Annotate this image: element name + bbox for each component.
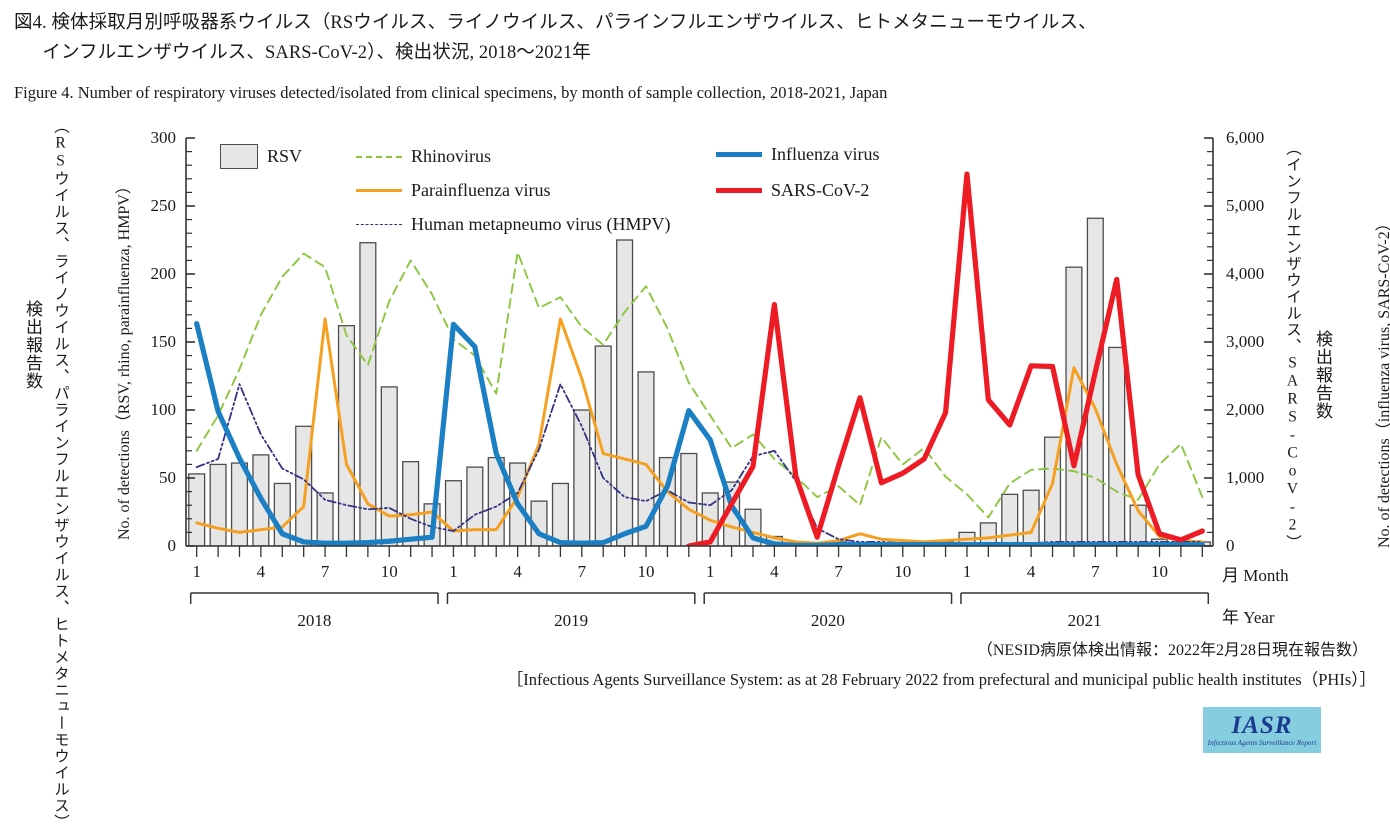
year-label: 2021 xyxy=(1015,611,1155,631)
bar-rsv xyxy=(467,467,483,546)
bar-rsv xyxy=(296,426,312,546)
right-axis-title-english: No. of detections（influenza virus, SARS-… xyxy=(1370,215,1390,548)
y-tick-label-right: 0 xyxy=(1226,537,1288,554)
x-tick-label-month: 10 xyxy=(374,563,404,580)
bar-rsv xyxy=(189,474,205,546)
y-tick-label-right: 1,000 xyxy=(1226,469,1288,486)
y-tick-label-right: 5,000 xyxy=(1226,197,1288,214)
x-tick-label-month: 7 xyxy=(310,563,340,580)
x-tick-label-month: 10 xyxy=(888,563,918,580)
iasr-logo-sub: Infectious Agents Surveillance Report xyxy=(1208,739,1317,748)
bar-rsv xyxy=(1066,267,1082,546)
bar-rsv xyxy=(360,243,376,546)
bar-rsv xyxy=(446,481,462,546)
x-tick-label-month: 4 xyxy=(1016,563,1046,580)
bar-rsv xyxy=(617,240,633,546)
bar-rsv xyxy=(403,462,419,546)
x-tick-label-month: 1 xyxy=(952,563,982,580)
bar-rsv xyxy=(553,483,569,546)
x-tick-label-month: 1 xyxy=(695,563,725,580)
year-label: 2019 xyxy=(501,611,641,631)
x-tick-label-month: 1 xyxy=(182,563,212,580)
right-axis-title-japanese: 検出報告数 xyxy=(1314,330,1331,420)
y-tick-label-left: 0 xyxy=(124,537,176,554)
left-axis-title-japanese: 検出報告数 xyxy=(24,300,41,390)
x-axis-year-title: 年 Year xyxy=(1222,603,1275,628)
y-tick-label-left: 150 xyxy=(124,333,176,350)
chart-canvas xyxy=(186,138,1213,546)
y-tick-label-left: 200 xyxy=(124,265,176,282)
x-tick-label-month: 10 xyxy=(631,563,661,580)
y-tick-label-left: 50 xyxy=(124,469,176,486)
x-axis-month-title: 月 Month xyxy=(1222,561,1289,586)
y-tick-label-left: 250 xyxy=(124,197,176,214)
x-tick-label-month: 7 xyxy=(1080,563,1110,580)
bar-rsv xyxy=(1002,494,1018,546)
y-tick-label-right: 6,000 xyxy=(1226,129,1288,146)
x-tick-label-month: 1 xyxy=(438,563,468,580)
bar-rsv xyxy=(574,410,590,546)
y-tick-label-right: 2,000 xyxy=(1226,401,1288,418)
plot-area xyxy=(186,138,1213,546)
y-tick-label-right: 3,000 xyxy=(1226,333,1288,350)
figure-title-japanese: 図4. 検体採取月別呼吸器系ウイルス（RSウイルス、ライノウイルス、パラインフル… xyxy=(14,8,1384,68)
footer-source-english: ［Infectious Agents Surveillance System: … xyxy=(507,666,1376,690)
iasr-logo: IASR Infectious Agents Surveillance Repo… xyxy=(1203,707,1321,753)
x-tick-label-month: 10 xyxy=(1145,563,1175,580)
x-tick-label-month: 7 xyxy=(824,563,854,580)
year-label: 2020 xyxy=(758,611,898,631)
x-tick-label-month: 4 xyxy=(246,563,276,580)
figure-title-english: Figure 4. Number of respiratory viruses … xyxy=(14,82,1390,104)
y-tick-label-left: 100 xyxy=(124,401,176,418)
figure-root: 図4. 検体採取月別呼吸器系ウイルス（RSウイルス、ライノウイルス、パラインフル… xyxy=(0,0,1390,784)
x-tick-label-month: 4 xyxy=(759,563,789,580)
y-tick-label-left: 300 xyxy=(124,129,176,146)
x-tick-label-month: 7 xyxy=(567,563,597,580)
bar-rsv xyxy=(210,464,226,546)
y-tick-label-right: 4,000 xyxy=(1226,265,1288,282)
iasr-logo-main: IASR xyxy=(1232,713,1293,739)
footer-source-japanese: （NESID病原体検出情報：2022年2月28日現在報告数） xyxy=(977,636,1368,660)
bar-rsv xyxy=(381,387,397,546)
bar-rsv xyxy=(595,346,611,546)
year-label: 2018 xyxy=(244,611,384,631)
x-tick-label-month: 4 xyxy=(503,563,533,580)
left-axis-title-japanese-paren: （RSウイルス、ライノウイルス、パラインフルエンザウイルス、ヒトメタニューモウイ… xyxy=(52,118,69,831)
